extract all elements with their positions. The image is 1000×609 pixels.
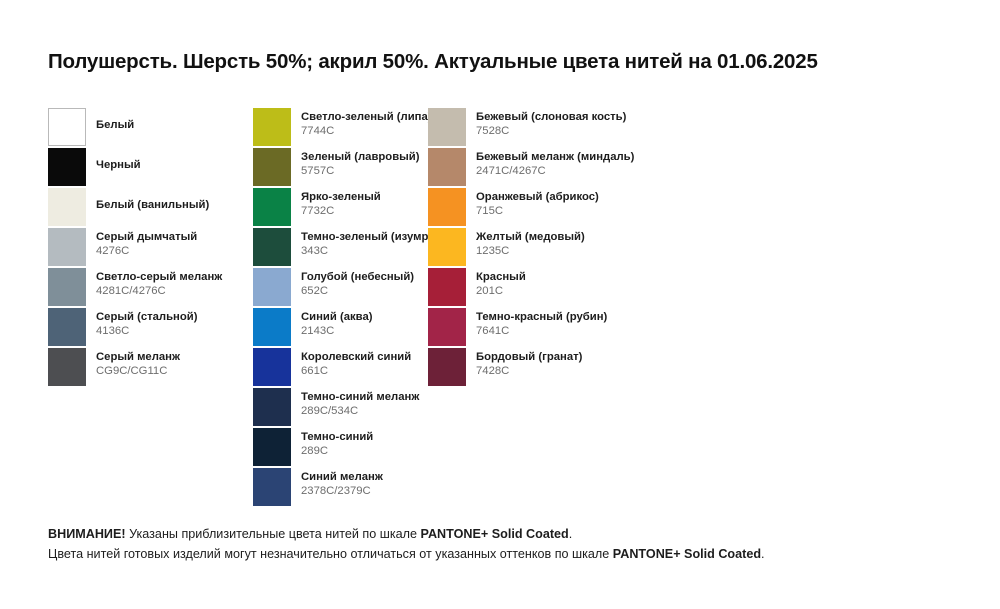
color-name: Бежевый меланж (миндаль) <box>476 151 634 164</box>
footer-line-1-text: Указаны приблизительные цвета нитей по ш… <box>126 527 421 541</box>
color-labels: Белый <box>96 111 134 132</box>
color-name: Зеленый (лавровый) <box>301 151 420 164</box>
footer-pantone-label-2: PANTONE+ Solid Coated <box>613 547 761 561</box>
color-swatch <box>253 308 291 346</box>
color-pantone-code: 289C/534C <box>301 405 419 418</box>
color-name: Желтый (медовый) <box>476 231 585 244</box>
color-swatch <box>253 108 291 146</box>
footer-line-2: Цвета нитей готовых изделий могут незнач… <box>48 544 765 564</box>
color-pantone-code: 2378C/2379C <box>301 485 383 498</box>
color-pantone-code: 7528C <box>476 125 626 138</box>
color-swatch <box>428 108 466 146</box>
color-swatch <box>428 148 466 186</box>
color-swatch <box>48 148 86 186</box>
color-pantone-code: 4136C <box>96 325 198 338</box>
color-pantone-code: 201C <box>476 285 526 298</box>
color-labels: Серый дымчатый4276C <box>96 231 197 257</box>
color-name: Серый (стальной) <box>96 311 198 324</box>
color-labels: Голубой (небесный)652C <box>301 271 414 297</box>
color-labels: Бежевый меланж (миндаль)2471C/4267C <box>476 151 634 177</box>
color-swatch <box>428 348 466 386</box>
color-name: Ярко-зеленый <box>301 191 381 204</box>
color-swatch <box>253 188 291 226</box>
color-labels: Бежевый (слоновая кость)7528C <box>476 111 626 137</box>
color-swatch <box>253 468 291 506</box>
color-labels: Черный <box>96 151 141 172</box>
color-name: Светло-серый меланж <box>96 271 222 284</box>
color-pantone-code: 2143C <box>301 325 373 338</box>
color-labels: Серый меланжCG9C/CG11C <box>96 351 180 377</box>
color-name: Синий меланж <box>301 471 383 484</box>
color-swatch <box>253 228 291 266</box>
color-labels: Темно-синий меланж289C/534C <box>301 391 419 417</box>
color-pantone-code: 4281C/4276C <box>96 285 222 298</box>
color-labels: Темно-зеленый (изумруд)343C <box>301 231 445 257</box>
color-labels: Светло-зеленый (липа)7744C <box>301 111 432 137</box>
color-pantone-code: 7428C <box>476 365 582 378</box>
color-name: Темно-синий <box>301 431 373 444</box>
color-name: Серый меланж <box>96 351 180 364</box>
footer-line-2-end: . <box>761 547 765 561</box>
color-pantone-code: 5757C <box>301 165 420 178</box>
color-swatch <box>428 188 466 226</box>
footer-line-1-end: . <box>569 527 573 541</box>
color-name: Белый (ванильный) <box>96 199 209 212</box>
color-swatch <box>48 348 86 386</box>
color-labels: Темно-красный (рубин)7641C <box>476 311 607 337</box>
color-labels: Бордовый (гранат)7428C <box>476 351 582 377</box>
color-labels: Желтый (медовый)1235C <box>476 231 585 257</box>
color-swatch <box>253 148 291 186</box>
color-name: Темно-красный (рубин) <box>476 311 607 324</box>
page-title: Полушерсть. Шерсть 50%; акрил 50%. Актуа… <box>48 50 818 74</box>
color-swatch <box>253 348 291 386</box>
color-labels: Королевский синий661C <box>301 351 411 377</box>
color-name: Бежевый (слоновая кость) <box>476 111 626 124</box>
color-pantone-code: 7732C <box>301 205 381 218</box>
color-name: Белый <box>96 119 134 132</box>
color-name: Голубой (небесный) <box>301 271 414 284</box>
footer-line-1: ВНИМАНИЕ! Указаны приблизительные цвета … <box>48 524 765 544</box>
footer-attention-label: ВНИМАНИЕ! <box>48 527 126 541</box>
color-pantone-code: 2471C/4267C <box>476 165 634 178</box>
footer-line-2-text: Цвета нитей готовых изделий могут незнач… <box>48 547 613 561</box>
color-swatch <box>428 268 466 306</box>
color-labels: Светло-серый меланж4281C/4276C <box>96 271 222 297</box>
color-labels: Белый (ванильный) <box>96 191 209 212</box>
color-swatch <box>48 188 86 226</box>
color-pantone-code: 7641C <box>476 325 607 338</box>
color-name: Темно-синий меланж <box>301 391 419 404</box>
color-name: Синий (аква) <box>301 311 373 324</box>
color-swatch <box>253 428 291 466</box>
color-pantone-code: 4276C <box>96 245 197 258</box>
color-name: Светло-зеленый (липа) <box>301 111 432 124</box>
color-pantone-code: 661C <box>301 365 411 378</box>
color-card-page: Полушерсть. Шерсть 50%; акрил 50%. Актуа… <box>0 0 1000 609</box>
color-pantone-code: 1235C <box>476 245 585 258</box>
color-swatch <box>253 268 291 306</box>
footer-disclaimer: ВНИМАНИЕ! Указаны приблизительные цвета … <box>48 524 765 565</box>
color-labels: Темно-синий289C <box>301 431 373 457</box>
color-pantone-code: CG9C/CG11C <box>96 365 180 378</box>
color-pantone-code: 343C <box>301 245 445 258</box>
color-name: Серый дымчатый <box>96 231 197 244</box>
color-labels: Ярко-зеленый7732C <box>301 191 381 217</box>
color-name: Бордовый (гранат) <box>476 351 582 364</box>
color-pantone-code: 289C <box>301 445 373 458</box>
color-labels: Оранжевый (абрикос)715C <box>476 191 599 217</box>
color-swatch <box>428 308 466 346</box>
color-swatch <box>48 108 86 146</box>
color-pantone-code: 7744C <box>301 125 432 138</box>
color-name: Королевский синий <box>301 351 411 364</box>
color-name: Черный <box>96 159 141 172</box>
color-labels: Серый (стальной)4136C <box>96 311 198 337</box>
color-swatch <box>48 268 86 306</box>
footer-pantone-label-1: PANTONE+ Solid Coated <box>420 527 568 541</box>
color-swatch <box>428 228 466 266</box>
color-labels: Зеленый (лавровый)5757C <box>301 151 420 177</box>
color-swatch <box>253 388 291 426</box>
color-name: Оранжевый (абрикос) <box>476 191 599 204</box>
color-pantone-code: 715C <box>476 205 599 218</box>
color-labels: Синий меланж2378C/2379C <box>301 471 383 497</box>
color-name: Красный <box>476 271 526 284</box>
color-labels: Красный201C <box>476 271 526 297</box>
color-swatch <box>48 308 86 346</box>
color-pantone-code: 652C <box>301 285 414 298</box>
color-name: Темно-зеленый (изумруд) <box>301 231 445 244</box>
color-labels: Синий (аква)2143C <box>301 311 373 337</box>
color-swatch <box>48 228 86 266</box>
